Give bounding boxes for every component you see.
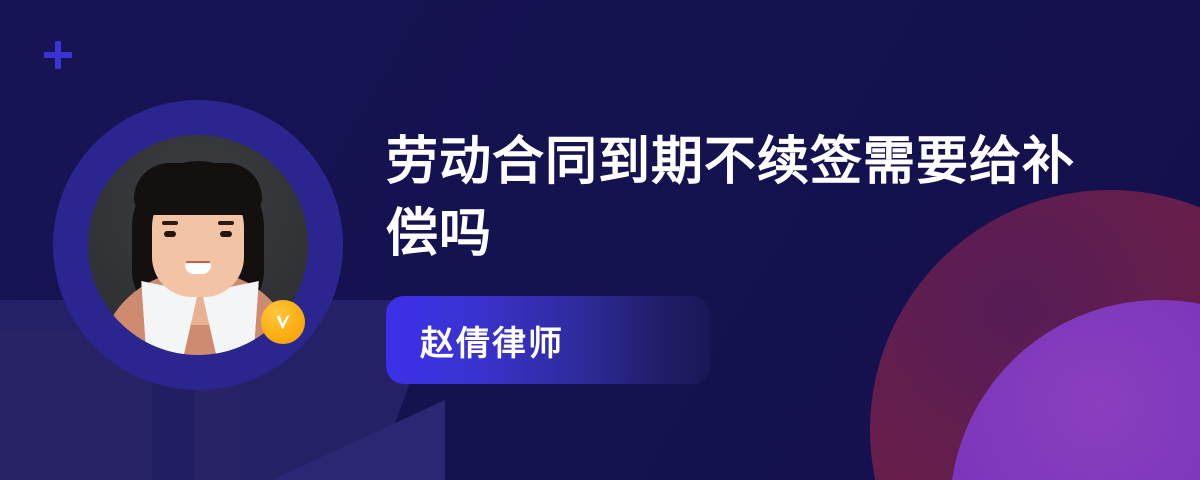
avatar[interactable] bbox=[53, 100, 343, 390]
portrait-brow-right bbox=[218, 221, 234, 225]
portrait-mouth bbox=[185, 263, 211, 274]
legal-qa-banner: 劳动合同到期不续签需要给补偿吗 赵倩律师 bbox=[0, 0, 1200, 480]
lawyer-name-button[interactable]: 赵倩律师 bbox=[386, 296, 710, 384]
plus-icon-vertical-bar bbox=[55, 41, 61, 69]
page-title: 劳动合同到期不续签需要给补偿吗 bbox=[386, 126, 1086, 270]
headline-block: 劳动合同到期不续签需要给补偿吗 bbox=[386, 126, 1086, 270]
verified-badge-icon bbox=[261, 300, 305, 344]
plus-icon bbox=[44, 41, 72, 69]
portrait-bangs bbox=[134, 163, 262, 215]
portrait-brow-left bbox=[162, 221, 178, 225]
portrait-eye-left bbox=[164, 231, 176, 237]
portrait-eye-right bbox=[220, 231, 232, 237]
